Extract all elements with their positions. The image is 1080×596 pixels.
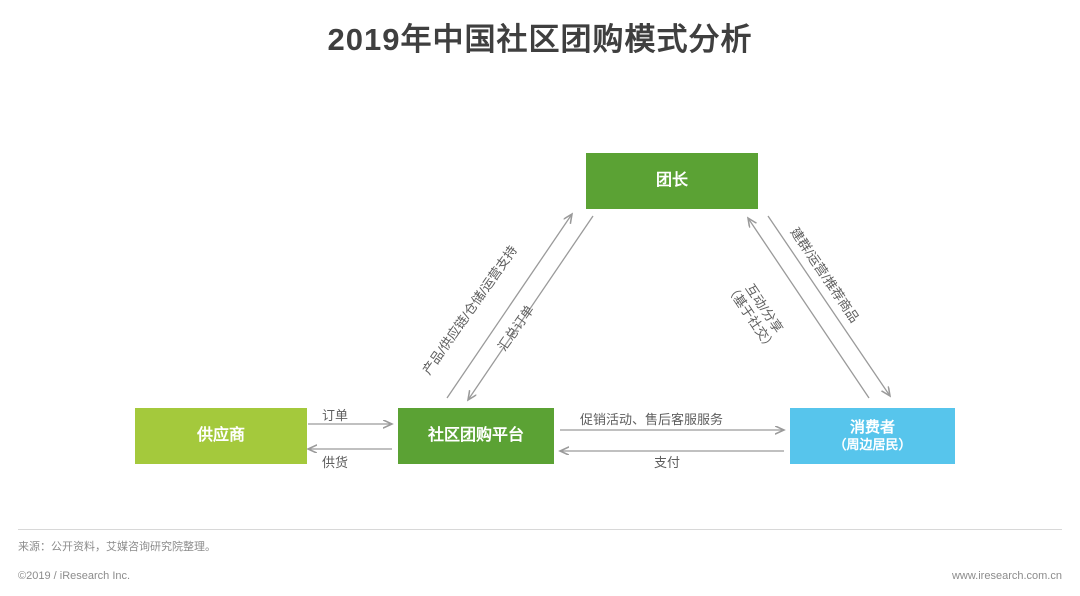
edge-label-payment: 支付 (654, 452, 680, 471)
footer-url: www.iresearch.com.cn (952, 570, 1062, 582)
footer-divider (18, 529, 1062, 530)
node-platform[interactable]: 社区团购平台 (398, 408, 554, 464)
diagram-canvas (0, 0, 1080, 596)
node-leader-label: 团长 (656, 171, 688, 191)
footer-source: 来源：公开资料，艾媒咨询研究院整理。 (18, 538, 216, 554)
node-consumer-label: 消费者 (850, 419, 895, 438)
edge-label-order: 订单 (322, 405, 348, 424)
arrow-leader-to-consumer (768, 216, 890, 396)
node-supplier-label: 供应商 (197, 426, 245, 446)
node-supplier[interactable]: 供应商 (135, 408, 307, 464)
node-leader[interactable]: 团长 (586, 153, 758, 209)
edge-label-promotion: 促销活动、售后客服服务 (580, 409, 723, 428)
node-consumer-sublabel: （周边居民） (833, 437, 911, 453)
node-consumer[interactable]: 消费者 （周边居民） (790, 408, 955, 464)
node-platform-label: 社区团购平台 (428, 426, 524, 446)
edge-label-supply: 供货 (322, 452, 348, 471)
footer-copyright: ©2019 / iResearch Inc. (18, 570, 130, 582)
